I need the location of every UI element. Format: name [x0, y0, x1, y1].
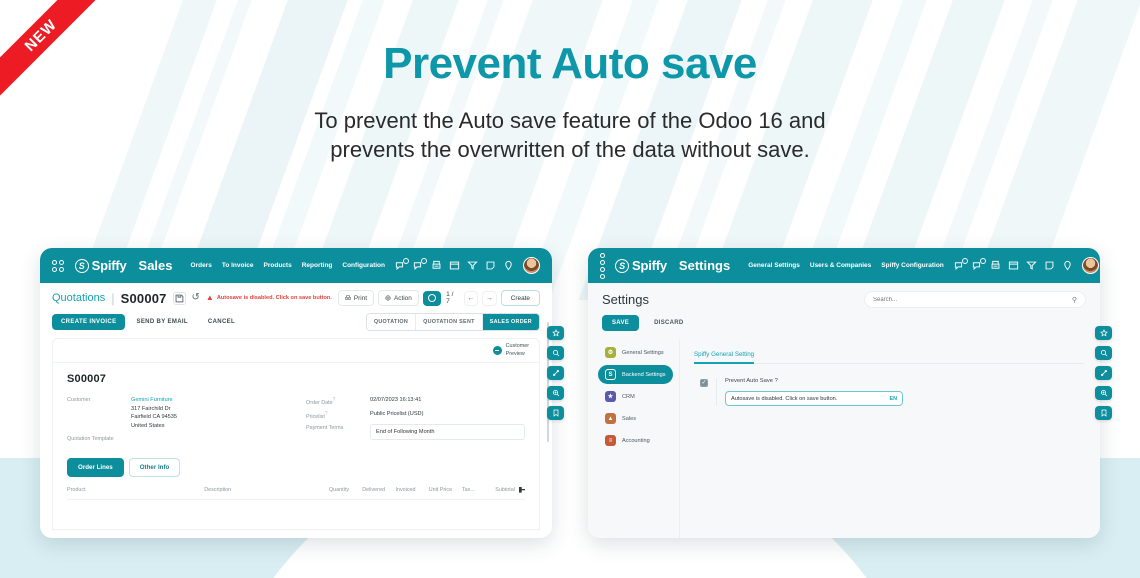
customer-address-country: United States	[131, 423, 165, 429]
star-icon[interactable]	[547, 326, 564, 340]
action-button-label: Action	[394, 295, 412, 302]
arrow-left-icon[interactable]: ←	[464, 291, 479, 306]
column-header-description: Description	[204, 487, 329, 493]
prevent-auto-save-checkbox[interactable]: ✓	[700, 379, 708, 387]
bookmark-icon[interactable]	[547, 406, 564, 420]
crm-icon: ★	[605, 391, 616, 402]
section-tab-spiffy-general-setting[interactable]: Spiffy General Setting	[694, 351, 754, 364]
order-date-value: 02/07/2023 16:13:41	[370, 396, 421, 406]
sidebar-item-label: Backend Settings	[622, 372, 666, 378]
prevent-auto-save-detail: Prevent Auto Save ? Autosave is disabled…	[716, 378, 1084, 406]
autosave-warning: ▲ Autosave is disabled. Click on save bu…	[206, 294, 332, 302]
spiffy-mark-icon: S	[615, 259, 629, 273]
pricelist-value: Public Pricelist (USD)	[370, 410, 423, 420]
cancel-button[interactable]: CANCEL	[199, 314, 244, 330]
page-subtitle-line-1: To prevent the Auto save feature of the …	[314, 108, 825, 133]
right-nav-menu: General Settings Users & Companies Spiff…	[748, 262, 944, 269]
print-icon[interactable]	[990, 260, 1001, 271]
nav-item-orders[interactable]: Orders	[191, 262, 212, 269]
nav-item-to-invoice[interactable]: To Invoice	[222, 262, 254, 269]
sidebar-item-label: Accounting	[622, 438, 650, 444]
right-nav-systray	[954, 257, 1099, 274]
control-panel-actions: Print Action 1 / 7 ← → Create	[338, 290, 540, 306]
print-button-label: Print	[354, 295, 367, 302]
brand-name: Spiffy	[632, 258, 667, 273]
form-sheet-wrapper: Customer Preview S00007 Customer Gemini …	[40, 331, 552, 530]
messages-icon[interactable]	[395, 260, 406, 271]
link-icon[interactable]	[547, 366, 564, 380]
sidebar-item-sales[interactable]: ▲ Sales	[598, 409, 673, 428]
payment-terms-label: Payment Terms	[306, 424, 362, 431]
control-panel: Quotations | S00007 ↺ ▲ Autosave is disa…	[40, 283, 552, 331]
order-date-label: Order Date?	[306, 396, 362, 406]
discard-undo-icon[interactable]: ↺	[192, 293, 200, 303]
action-button[interactable]: Action	[378, 290, 419, 306]
settings-body: Settings ⚲ SAVE DISCARD ⚙ General Settin…	[588, 283, 1100, 538]
nav-item-reporting[interactable]: Reporting	[302, 262, 333, 269]
user-avatar[interactable]	[523, 257, 540, 274]
form-column-left: Customer Gemini Furniture 317 Fairchild …	[67, 396, 286, 446]
column-header-subtotal: Subtotal	[495, 487, 515, 493]
pricelist-label: Pricelist?	[306, 410, 362, 420]
status-sales-order[interactable]: SALES ORDER	[483, 314, 539, 330]
note-icon[interactable]	[485, 260, 496, 271]
column-header-product: Product	[67, 487, 204, 493]
brand-logo[interactable]: S Spiffy	[615, 258, 667, 273]
statusbar-row: CREATE INVOICE SEND BY EMAIL CANCEL QUOT…	[52, 313, 540, 331]
spinner-circle-icon[interactable]	[423, 291, 441, 306]
arrow-right-icon[interactable]: →	[482, 291, 497, 306]
customer-field-value: Gemini Furniture 317 Fairchild Dr Fairfi…	[131, 396, 177, 431]
status-quotation-sent[interactable]: QUOTATION SENT	[416, 314, 483, 330]
calendar-icon[interactable]	[449, 260, 460, 271]
form-field-grid: Customer Gemini Furniture 317 Fairchild …	[67, 396, 525, 446]
bookmark-icon[interactable]	[1095, 406, 1112, 420]
settings-content: Spiffy General Setting ✓ Prevent Auto Sa…	[680, 339, 1100, 538]
messages-icon[interactable]	[954, 260, 965, 271]
sidebar-item-general-settings[interactable]: ⚙ General Settings	[598, 343, 673, 362]
left-floating-rail	[547, 326, 564, 420]
breadcrumb-current-record: S00007	[121, 291, 167, 306]
apps-grid-icon[interactable]	[52, 260, 65, 272]
sidebar-item-accounting[interactable]: ≡ Accounting	[598, 431, 673, 450]
breadcrumb-separator: |	[111, 291, 114, 306]
note-icon[interactable]	[1044, 260, 1055, 271]
filter-icon[interactable]	[467, 260, 478, 271]
settings-screenshot: S Spiffy Settings General Settings Users…	[588, 248, 1100, 538]
left-navbar: S Spiffy Sales Orders To Invoice Product…	[40, 248, 552, 283]
quotation-template-row: Quotation Template	[67, 435, 286, 442]
autosave-message-input[interactable]: Autosave is disabled. Click on save butt…	[725, 391, 903, 406]
customer-name-link[interactable]: Gemini Furniture	[131, 397, 173, 403]
printer-icon	[345, 295, 351, 301]
column-header-subtotal-group: Subtotal	[495, 487, 525, 493]
save-icon[interactable]	[173, 292, 186, 305]
column-header-unit-price: Unit Price	[429, 487, 462, 493]
column-header-tax: Tax...	[462, 487, 495, 493]
warning-triangle-icon: ▲	[206, 294, 214, 302]
record-pager: 1 / 7	[445, 291, 459, 305]
left-nav-systray	[395, 257, 540, 274]
sidebar-item-backend-settings[interactable]: S Backend Settings	[598, 365, 673, 384]
customer-preview-line-1: Customer	[506, 343, 529, 349]
page-header: Prevent Auto save To prevent the Auto sa…	[0, 40, 1140, 164]
globe-icon	[493, 346, 502, 355]
sheet-top-bar: Customer Preview	[53, 339, 539, 363]
nav-item-users-companies[interactable]: Users & Companies	[810, 262, 871, 269]
calendar-icon[interactable]	[1008, 260, 1019, 271]
star-icon[interactable]	[1095, 326, 1112, 340]
status-quotation[interactable]: QUOTATION	[367, 314, 416, 330]
sidebar-item-label: CRM	[622, 394, 635, 400]
brand-logo[interactable]: S Spiffy	[75, 258, 127, 273]
activities-icon[interactable]	[972, 260, 983, 271]
sales-icon: ▲	[605, 413, 616, 424]
nav-item-spiffy-configuration[interactable]: Spiffy Configuration	[881, 262, 943, 269]
column-header-delivered: Delivered	[362, 487, 395, 493]
settings-page-title: Settings	[602, 292, 649, 307]
sidebar-item-label: Sales	[622, 416, 636, 422]
settings-action-buttons: SAVE DISCARD	[602, 315, 1086, 331]
pricelist-row: Pricelist? Public Pricelist (USD)	[306, 410, 525, 420]
prevent-auto-save-label: Prevent Auto Save ?	[725, 378, 1084, 384]
order-lines-table-header: Product Description Quantity Delivered I…	[67, 487, 525, 500]
send-by-email-button[interactable]: SEND BY EMAIL	[127, 314, 196, 330]
pin-icon[interactable]	[1062, 260, 1073, 271]
record-title: S00007	[67, 373, 525, 385]
print-icon[interactable]	[431, 260, 442, 271]
prevent-auto-save-setting: ✓ Prevent Auto Save ? Autosave is disabl…	[694, 378, 1084, 406]
customer-preview-label: Customer Preview	[506, 343, 529, 358]
order-date-row: Order Date? 02/07/2023 16:13:41	[306, 396, 525, 406]
notebook-tabs: Order Lines Other Info	[67, 458, 525, 477]
zoom-icon[interactable]	[1095, 386, 1112, 400]
create-invoice-button[interactable]: CREATE INVOICE	[52, 314, 125, 330]
apps-grid-icon[interactable]	[600, 253, 605, 279]
right-floating-rail	[1095, 326, 1112, 420]
customer-preview-button[interactable]: Customer Preview	[493, 343, 529, 358]
tab-order-lines[interactable]: Order Lines	[67, 458, 124, 477]
gear-icon: ⚙	[605, 347, 616, 358]
settings-main: ⚙ General Settings S Backend Settings ★ …	[588, 339, 1100, 538]
settings-header: Settings ⚲ SAVE DISCARD	[588, 283, 1100, 331]
breadcrumb-quotations[interactable]: Quotations	[52, 292, 105, 304]
customer-field-row: Customer Gemini Furniture 317 Fairchild …	[67, 396, 286, 431]
gear-icon	[385, 295, 391, 301]
settings-sidebar: ⚙ General Settings S Backend Settings ★ …	[588, 339, 680, 538]
left-nav-menu: Orders To Invoice Products Reporting Con…	[191, 262, 385, 269]
breadcrumb-row: Quotations | S00007 ↺ ▲ Autosave is disa…	[52, 290, 540, 306]
new-ribbon: NEW	[0, 0, 110, 110]
tab-other-info[interactable]: Other Info	[129, 458, 181, 477]
page-subtitle: To prevent the Auto save feature of the …	[0, 106, 1140, 164]
status-badge: QUOTATION QUOTATION SENT SALES ORDER	[366, 313, 540, 331]
column-header-quantity: Quantity	[329, 487, 362, 493]
nav-item-products[interactable]: Products	[264, 262, 292, 269]
settings-search-box[interactable]: ⚲	[864, 291, 1086, 308]
customer-address-line-2: Fairfield CA 94535	[131, 414, 177, 420]
customer-preview-line-2: Preview	[506, 351, 525, 357]
brand-name: Spiffy	[92, 258, 127, 273]
discard-button[interactable]: DISCARD	[644, 315, 693, 331]
customer-address-line-1: 317 Fairchild Dr	[131, 406, 170, 412]
activities-icon[interactable]	[413, 260, 424, 271]
form-column-right: Order Date? 02/07/2023 16:13:41 Pricelis…	[306, 396, 525, 446]
form-sheet: Customer Preview S00007 Customer Gemini …	[52, 338, 540, 530]
sidebar-item-label: General Settings	[622, 350, 664, 356]
autosave-warning-text: Autosave is disabled. Click on save butt…	[217, 295, 332, 301]
nav-item-configuration[interactable]: Configuration	[342, 262, 385, 269]
zoom-icon[interactable]	[547, 386, 564, 400]
autosave-message-value: Autosave is disabled. Click on save butt…	[731, 396, 890, 402]
payment-terms-row: Payment Terms End of Following Month	[306, 424, 525, 440]
search-icon[interactable]	[547, 346, 564, 360]
print-button[interactable]: Print	[338, 290, 374, 306]
spiffy-icon: S	[605, 369, 616, 380]
nav-item-general-settings[interactable]: General Settings	[748, 262, 800, 269]
column-header-invoiced: Invoiced	[395, 487, 428, 493]
accounting-icon: ≡	[605, 435, 616, 446]
right-navbar: S Spiffy Settings General Settings Users…	[588, 248, 1100, 283]
page-title: Prevent Auto save	[0, 40, 1140, 88]
customer-field-label: Customer	[67, 396, 123, 431]
search-icon[interactable]	[1095, 346, 1112, 360]
sidebar-item-crm[interactable]: ★ CRM	[598, 387, 673, 406]
current-app-name: Sales	[139, 258, 173, 273]
spiffy-mark-icon: S	[75, 259, 89, 273]
pin-icon[interactable]	[503, 260, 514, 271]
current-app-name: Settings	[679, 258, 730, 273]
settings-header-row: Settings ⚲	[602, 291, 1086, 308]
filter-icon[interactable]	[1026, 260, 1037, 271]
payment-terms-input[interactable]: End of Following Month	[370, 424, 525, 440]
sales-order-screenshot: S Spiffy Sales Orders To Invoice Product…	[40, 248, 552, 538]
search-input[interactable]	[873, 297, 1072, 303]
column-settings-icon[interactable]	[519, 487, 525, 493]
user-avatar[interactable]	[1082, 257, 1099, 274]
quotation-template-label: Quotation Template	[67, 435, 123, 442]
page-subtitle-line-2: prevents the overwritten of the data wit…	[330, 137, 809, 162]
search-icon[interactable]: ⚲	[1072, 296, 1077, 304]
create-button[interactable]: Create	[501, 290, 540, 306]
form-body: S00007 Customer Gemini Furniture 317 Fai…	[53, 363, 539, 510]
language-badge[interactable]: EN	[890, 396, 898, 402]
save-button[interactable]: SAVE	[602, 315, 639, 331]
new-ribbon-label: NEW	[0, 0, 110, 105]
link-icon[interactable]	[1095, 366, 1112, 380]
